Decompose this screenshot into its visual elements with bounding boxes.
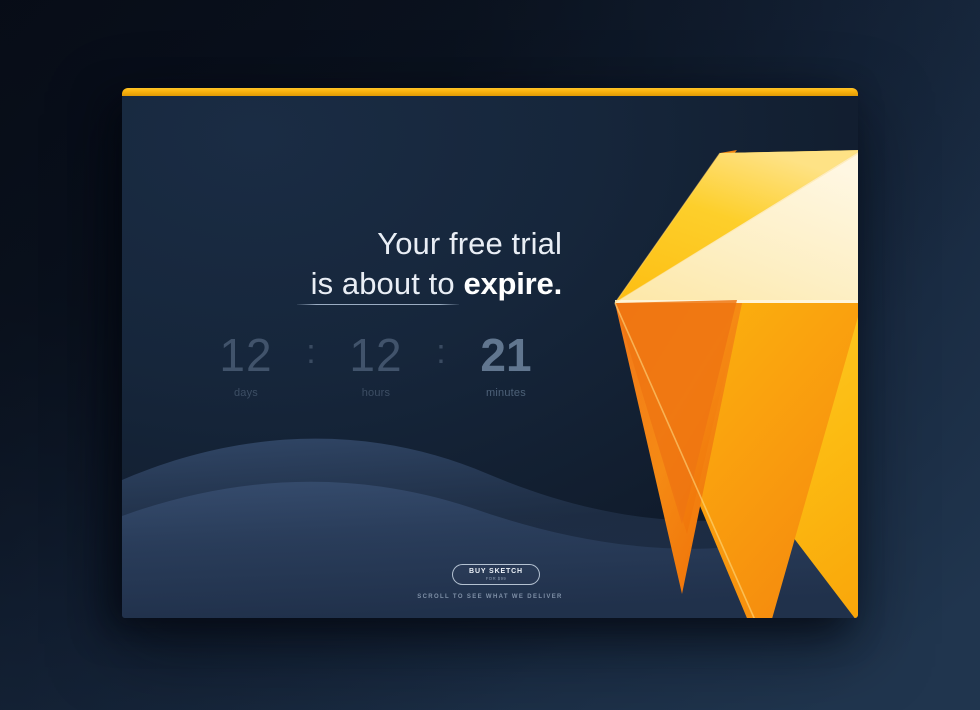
page-title: Your free trial is about to expire. — [162, 224, 562, 304]
headline-line-1: Your free trial — [377, 226, 562, 261]
buy-sketch-button[interactable]: BUY SKETCH FOR $99 — [452, 564, 540, 585]
countdown-separator-2: : — [428, 332, 454, 372]
countdown-unit-hours: 12 hours — [324, 332, 428, 399]
buy-sketch-label: BUY SKETCH — [469, 568, 523, 575]
headline-divider — [297, 304, 459, 305]
headline-emphasis: expire. — [463, 266, 562, 301]
countdown-value-minutes: 21 — [454, 332, 558, 378]
card-body: Your free trial is about to expire. 12 d… — [122, 94, 858, 618]
countdown-label-days: days — [194, 387, 298, 399]
countdown-timer: 12 days : 12 hours : 21 minutes — [178, 332, 574, 399]
headline-prefix: is about to — [311, 266, 464, 301]
countdown-separator-1: : — [298, 332, 324, 372]
countdown-unit-minutes: 21 minutes — [454, 332, 558, 399]
headline-line-2: is about to expire. — [162, 264, 562, 304]
countdown-label-hours: hours — [324, 387, 428, 399]
card-content: Your free trial is about to expire. 12 d… — [122, 94, 858, 618]
hero-card: Your free trial is about to expire. 12 d… — [122, 88, 858, 618]
buy-sketch-price: FOR $99 — [486, 577, 507, 581]
countdown-unit-days: 12 days — [194, 332, 298, 399]
card-accent-bar — [122, 88, 858, 96]
scroll-hint: SCROLL TO SEE WHAT WE DELIVER — [122, 594, 858, 600]
countdown-value-hours: 12 — [324, 332, 428, 378]
countdown-value-days: 12 — [194, 332, 298, 378]
countdown-label-minutes: minutes — [454, 387, 558, 399]
